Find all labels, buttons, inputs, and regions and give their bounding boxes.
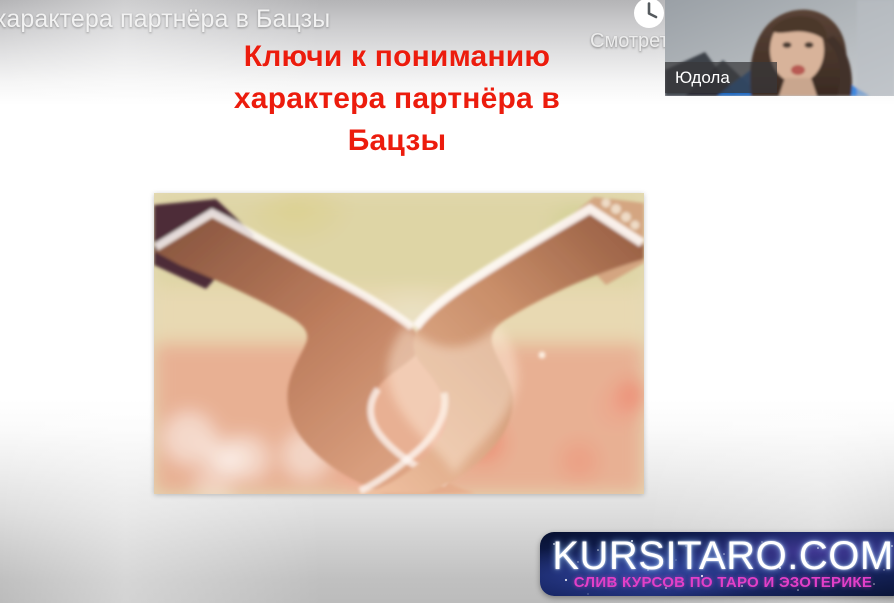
page-title-line-3: Бацзы bbox=[182, 120, 612, 162]
previous-slide-title-fragment: характера партнёра в Бацзы bbox=[0, 4, 330, 34]
page-title: Ключи к пониманию характера партнёра в Б… bbox=[182, 36, 612, 162]
presentation-slide-screenshot: характера партнёра в Бацзы Ключи к поним… bbox=[0, 0, 894, 603]
site-watermark: KURSITARO.COM СЛИВ КУРСОВ ПО ТАРО И ЭЗОТ… bbox=[540, 532, 894, 596]
suggested-video-title[interactable]: Юдола bbox=[665, 62, 777, 93]
hands-heart-photo bbox=[154, 193, 644, 494]
page-title-line-1: Ключи к пониманию bbox=[182, 36, 612, 78]
watermark-tagline: СЛИВ КУРСОВ ПО ТАРО И ЭЗОТЕРИКЕ bbox=[540, 574, 894, 591]
watermark-site-name: KURSITARO.COM bbox=[540, 534, 894, 578]
page-title-line-2: характера партнёра в bbox=[182, 78, 612, 120]
